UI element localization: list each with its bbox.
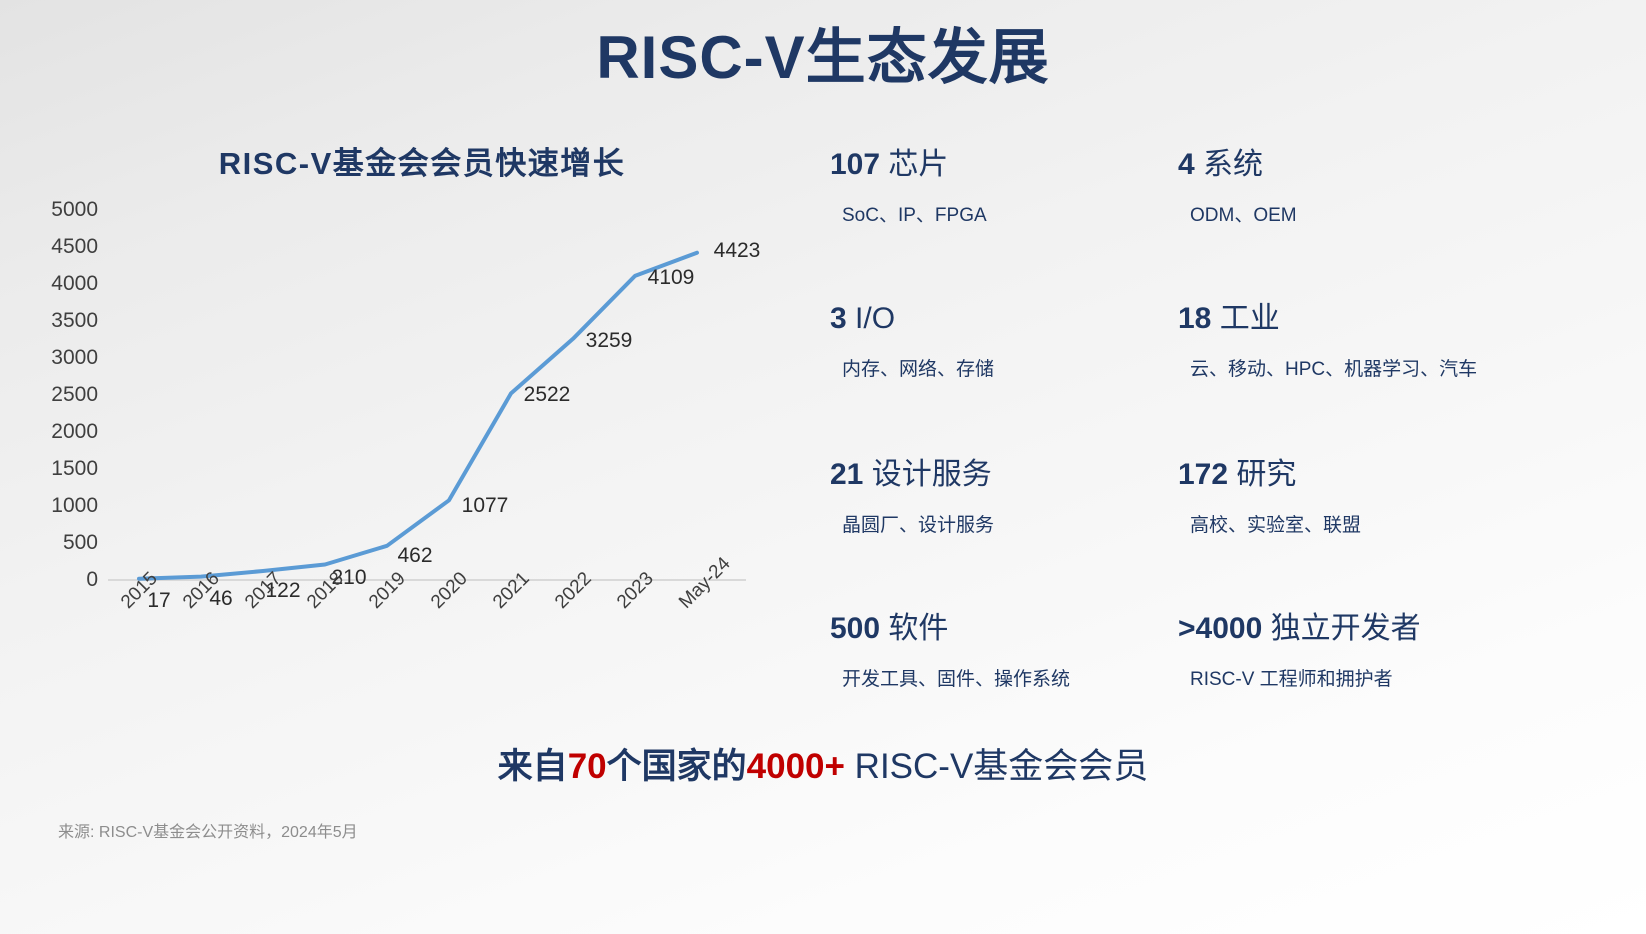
stat-word: 研究 — [1236, 458, 1296, 491]
stat-subtitle: 晶圆厂、设计服务 — [842, 510, 994, 537]
stat-heading: 500 软件 — [830, 612, 1070, 647]
slide-root: RISC-V生态发展 RISC-V基金会会员快速增长 5000450040003… — [0, 0, 1646, 934]
stat-word: I/O — [855, 302, 895, 335]
stat-heading: 3 I/O — [830, 302, 994, 337]
stat-subtitle: 高校、实验室、联盟 — [1190, 510, 1361, 537]
stat-heading: 18 工业 — [1178, 302, 1477, 337]
stat-subtitle: SoC、IP、FPGA — [842, 200, 987, 227]
stat-number: 107 — [830, 148, 880, 181]
stat-heading: 172 研究 — [1178, 458, 1361, 493]
y-axis-tick: 3500 — [30, 309, 98, 333]
stat-heading: 107 芯片 — [830, 148, 987, 183]
stat-word: 独立开发者 — [1271, 612, 1421, 645]
stat-number: >4000 — [1178, 612, 1262, 645]
data-point-label: 462 — [397, 544, 432, 568]
page-title: RISC-V生态发展 — [0, 22, 1646, 94]
y-axis-tick: 4500 — [30, 235, 98, 259]
summary-suffix: RISC-V基金会会员 — [845, 747, 1148, 786]
stat-subtitle: 开发工具、固件、操作系统 — [842, 664, 1070, 691]
summary-prefix: 来自 — [498, 747, 568, 786]
stat-subtitle: 云、移动、HPC、机器学习、汽车 — [1190, 354, 1477, 381]
stat-heading: 21 设计服务 — [830, 458, 994, 493]
stat-card-design-services: 21 设计服务 晶圆厂、设计服务 — [830, 458, 994, 537]
summary-banner: 来自70个国家的4000+ RISC-V基金会会员 — [0, 738, 1646, 789]
stat-card-io: 3 I/O 内存、网络、存储 — [830, 302, 994, 381]
summary-countries: 70 — [568, 747, 607, 786]
stat-word: 软件 — [888, 612, 948, 645]
stat-card-chips: 107 芯片 SoC、IP、FPGA — [830, 148, 987, 227]
chart-plot-area: 1746122210462107725223259410944232015201… — [108, 210, 748, 610]
stat-card-industry: 18 工业 云、移动、HPC、机器学习、汽车 — [1178, 302, 1477, 381]
stat-number: 3 — [830, 302, 847, 335]
stat-word: 设计服务 — [872, 458, 992, 491]
stat-word: 系统 — [1203, 148, 1263, 181]
stat-card-research: 172 研究 高校、实验室、联盟 — [1178, 458, 1361, 537]
data-point-label: 3259 — [586, 329, 633, 353]
stat-card-software: 500 软件 开发工具、固件、操作系统 — [830, 612, 1070, 691]
stat-subtitle: RISC-V 工程师和拥护者 — [1190, 664, 1421, 691]
data-point-label: 4109 — [648, 266, 695, 290]
y-axis-tick: 1500 — [30, 457, 98, 481]
stat-word: 芯片 — [888, 148, 948, 181]
y-axis-tick: 500 — [30, 531, 98, 555]
y-axis-tick: 3000 — [30, 346, 98, 370]
stat-number: 500 — [830, 612, 880, 645]
y-axis-tick: 2500 — [30, 383, 98, 407]
data-point-label: 1077 — [462, 494, 509, 518]
y-axis-tick: 0 — [30, 568, 98, 592]
stat-heading: >4000 独立开发者 — [1178, 612, 1421, 647]
data-point-label: 4423 — [714, 239, 761, 263]
summary-mid: 个国家的 — [607, 747, 747, 786]
y-axis-tick: 4000 — [30, 272, 98, 296]
stat-number: 172 — [1178, 458, 1228, 491]
data-point-label: 2522 — [524, 383, 571, 407]
stat-heading: 4 系统 — [1178, 148, 1297, 183]
y-axis-tick: 2000 — [30, 420, 98, 444]
y-axis-tick-labels: 5000450040003500300025002000150010005000 — [18, 210, 98, 610]
chart-title: RISC-V基金会会员快速增长 — [18, 138, 808, 183]
stat-number: 18 — [1178, 302, 1211, 335]
stat-card-individual-developers: >4000 独立开发者 RISC-V 工程师和拥护者 — [1178, 612, 1421, 691]
source-note: 来源: RISC-V基金会公开资料，2024年5月 — [58, 818, 358, 842]
y-axis-tick: 1000 — [30, 494, 98, 518]
summary-members: 4000+ — [747, 747, 845, 786]
chart-canvas: 5000450040003500300025002000150010005000… — [18, 210, 778, 690]
stat-subtitle: 内存、网络、存储 — [842, 354, 994, 381]
stat-number: 4 — [1178, 148, 1195, 181]
stat-subtitle: ODM、OEM — [1190, 200, 1297, 227]
stat-card-systems: 4 系统 ODM、OEM — [1178, 148, 1297, 227]
y-axis-tick: 5000 — [30, 198, 98, 222]
stat-number: 21 — [830, 458, 863, 491]
stat-word: 工业 — [1220, 302, 1280, 335]
membership-growth-chart: RISC-V基金会会员快速增长 500045004000350030002500… — [18, 138, 808, 698]
